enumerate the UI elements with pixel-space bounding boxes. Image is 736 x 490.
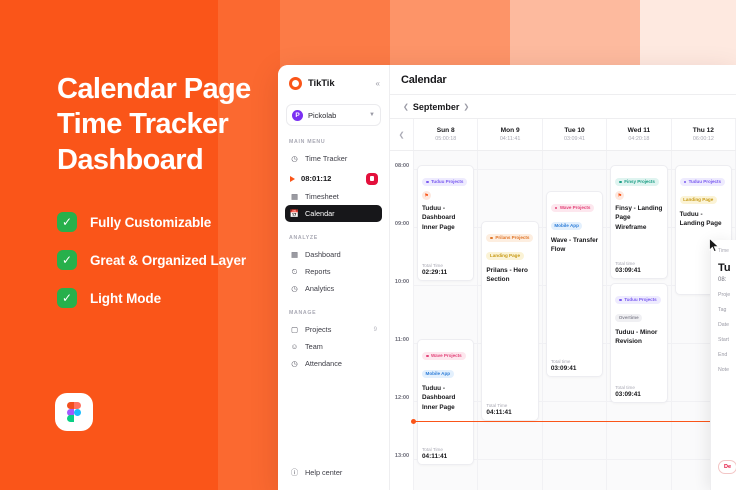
hour-gridline (478, 169, 541, 170)
detail-field-tag[interactable]: Tag (718, 307, 736, 313)
day-total: 04:20:18 (628, 136, 649, 142)
chevron-left-icon[interactable]: ❮ (399, 103, 413, 111)
day-total: 06:00:12 (693, 136, 714, 142)
project-color-dot (684, 181, 687, 184)
event-total-time: Total Time04:11:41 (486, 403, 511, 417)
day-name: Thu 12 (693, 127, 714, 134)
event-total-label: Total time (615, 261, 641, 266)
sidebar-item-label: Time Tracker (305, 154, 347, 163)
month-label: September (413, 102, 460, 112)
main-area: Calendar ❮ September ❯ ❮ Sun 8 05:00:18 … (390, 65, 736, 490)
feature-label: Great & Organized Layer (90, 253, 246, 268)
event-project-tag: Prilans Projects (486, 234, 533, 242)
sidebar-item-label: Projects (305, 325, 331, 334)
check-icon: ✓ (57, 250, 77, 270)
workspace-switcher[interactable]: P Pickolab ▼ (286, 104, 381, 126)
detail-kicker: Time (718, 248, 736, 254)
chevron-right-icon[interactable]: ❯ (459, 103, 473, 111)
event-title: Prilans - Hero Section (486, 266, 533, 285)
event-project-tag: Tuduu Projects (422, 178, 467, 186)
feature-item: ✓ Great & Organized Layer (57, 250, 297, 270)
feature-label: Fully Customizable (90, 215, 211, 230)
project-color-dot (490, 237, 493, 240)
event-title: Tuduu - Minor Revision (615, 328, 662, 347)
calendar-event[interactable]: Tuduu Projects⚑Tuduu - Dashboard Inner P… (417, 165, 474, 281)
promo-title: Calendar Page Time Tracker Dashboard (57, 72, 297, 178)
day-header[interactable]: Thu 12 06:00:12 (672, 119, 736, 150)
page-title: Calendar (401, 74, 446, 86)
feature-label: Light Mode (90, 291, 161, 306)
event-total-label: Total time (615, 385, 641, 390)
day-name: Wed 11 (628, 127, 651, 134)
project-color-dot (555, 207, 558, 210)
stop-icon[interactable] (366, 173, 378, 185)
grid-icon: ▦ (290, 250, 299, 259)
feature-item: ✓ Fully Customizable (57, 212, 297, 232)
folder-icon: ▢ (290, 325, 299, 334)
calendar-event[interactable]: Finsy Projects⚑Finsy - Landing Page Wire… (610, 165, 667, 279)
event-total-label: Total Time (486, 403, 511, 408)
sidebar-item-label: Dashboard (305, 250, 341, 259)
event-project-tag: Wave Projects (551, 204, 595, 212)
brand-name: TikTik (308, 78, 335, 89)
hour-label: 10:00 (390, 279, 414, 285)
day-columns: Tuduu Projects⚑Tuduu - Dashboard Inner P… (414, 151, 736, 490)
event-sublabel: Overtime (615, 314, 642, 322)
month-navigation: ❮ September ❯ (390, 95, 736, 119)
day-name: Mon 9 (501, 127, 520, 134)
tag-icon: ⚑ (615, 191, 624, 200)
play-icon (290, 176, 295, 182)
section-label-analyze: ANALYZE (278, 235, 389, 241)
event-sublabel: Landing Page (486, 252, 523, 260)
delete-button[interactable]: De (718, 460, 736, 474)
collapse-left-icon[interactable]: « (376, 79, 380, 88)
sidebar-item-label: Attendance (305, 359, 342, 368)
current-time-dot (411, 419, 416, 424)
day-header[interactable]: Tue 10 03:09:41 (543, 119, 607, 150)
check-icon: ✓ (57, 288, 77, 308)
mouse-pointer-icon (709, 238, 720, 253)
tag-icon: ⚑ (422, 191, 431, 200)
sidebar-item-label: Reports (305, 267, 331, 276)
event-sublabel: Landing Page (680, 196, 717, 204)
sidebar-item-timesheet[interactable]: ▦ Timesheet (285, 188, 382, 205)
event-title: Wave - Transfer Flow (551, 236, 598, 255)
sidebar-item-label: Help center (305, 468, 342, 477)
day-column[interactable]: Prilans ProjectsLanding PagePrilans - He… (478, 151, 542, 490)
timer-value: 08:01:12 (301, 174, 331, 183)
projects-count-badge: 9 (374, 327, 377, 333)
event-total-label: Total Time (422, 447, 447, 452)
project-color-dot (426, 355, 429, 358)
help-icon: ⓘ (290, 468, 299, 477)
event-total-value: 03:09:41 (615, 391, 641, 398)
event-title: Tuduu - Landing Page (680, 210, 727, 229)
event-total-time: Total time03:09:41 (615, 261, 641, 275)
sidebar-item-analytics[interactable]: ◷ Analytics (285, 280, 382, 297)
detail-title: Tu (718, 262, 736, 274)
day-name: Sun 8 (437, 127, 455, 134)
sidebar-item-dashboard[interactable]: ▦ Dashboard (285, 246, 382, 263)
day-name: Tue 10 (564, 127, 584, 134)
day-total: 03:09:41 (564, 136, 585, 142)
hour-gridline (543, 459, 606, 460)
sidebar-item-label: Timesheet (305, 192, 339, 201)
event-sublabel: Mobile App (422, 370, 454, 378)
bar-chart-icon: ⏲ (290, 267, 299, 276)
event-title: Tuduu - Dashboard Inner Page (422, 204, 469, 232)
clock-icon: ◷ (290, 359, 299, 368)
day-total: 04:11:41 (500, 136, 521, 142)
detail-field-note[interactable]: Note (718, 367, 736, 373)
day-column[interactable]: Finsy Projects⚑Finsy - Landing Page Wire… (607, 151, 671, 490)
day-column[interactable]: Tuduu Projects⚑Tuduu - Dashboard Inner P… (414, 151, 478, 490)
calendar-grid[interactable]: 08:0009:0010:0011:0012:0013:00 Tuduu Pro… (390, 151, 736, 490)
event-total-time: Total Time02:29:11 (422, 263, 447, 277)
event-project-tag: Wave Projects (422, 352, 466, 360)
hour-label: 09:00 (390, 221, 414, 227)
sidebar-item-reports[interactable]: ⏲ Reports (285, 263, 382, 280)
project-color-dot (619, 181, 622, 184)
detail-field-end[interactable]: End (718, 352, 736, 358)
sidebar-item-calendar[interactable]: 📅 Calendar (285, 205, 382, 222)
sidebar-item-label: Team (305, 342, 323, 351)
check-icon: ✓ (57, 212, 77, 232)
event-total-value: 04:11:41 (486, 409, 511, 416)
day-header[interactable]: Sun 8 05:00:18 (414, 119, 478, 150)
people-icon: ☺ (290, 342, 299, 351)
workspace-name: Pickolab (308, 111, 336, 120)
promo-content: Calendar Page Time Tracker Dashboard ✓ F… (57, 72, 297, 326)
detail-field-date[interactable]: Date (718, 322, 736, 328)
sidebar-item-projects[interactable]: ▢ Projects 9 (285, 321, 382, 338)
hour-label: 08:00 (390, 163, 414, 169)
calendar-event[interactable]: Wave ProjectsMobile AppWave - Transfer F… (546, 191, 603, 377)
help-center-row[interactable]: ⓘ Help center (278, 464, 390, 481)
hour-label: 11:00 (390, 337, 414, 343)
calendar-icon: 📅 (290, 209, 299, 218)
sidebar-item-label: Analytics (305, 284, 334, 293)
event-total-time: Total time03:09:41 (551, 359, 577, 373)
calendar-event[interactable]: Tuduu ProjectsOvertimeTuduu - Minor Revi… (610, 283, 667, 403)
clock-icon: ◷ (290, 284, 299, 293)
hour-gridline (607, 459, 670, 460)
hour-gridline (543, 169, 606, 170)
event-total-value: 02:29:11 (422, 269, 447, 276)
app-window: TikTik « P Pickolab ▼ MAIN MENU ◷ Time T… (278, 65, 736, 490)
event-total-label: Total Time (422, 263, 447, 268)
running-timer[interactable]: 08:01:12 (285, 169, 382, 188)
event-project-tag: Tuduu Projects (615, 296, 660, 304)
day-column[interactable]: Wave ProjectsMobile AppWave - Transfer F… (543, 151, 607, 490)
calendar-event[interactable]: Wave ProjectsMobile AppTuduu - Dashboard… (417, 339, 474, 465)
project-color-dot (426, 181, 429, 184)
chevron-down-icon: ▼ (369, 112, 375, 118)
hour-gridline (478, 459, 541, 460)
figma-logo-icon (55, 393, 93, 431)
event-total-time: Total time03:09:41 (615, 385, 641, 399)
calendar-event[interactable]: Prilans ProjectsLanding PagePrilans - He… (481, 221, 538, 421)
hour-gridline (543, 401, 606, 402)
scroll-left-icon[interactable]: ❮ (390, 119, 414, 150)
sidebar-item-attendance[interactable]: ◷ Attendance (285, 355, 382, 372)
event-project-tag: Finsy Projects (615, 178, 659, 186)
event-total-time: Total Time04:11:41 (422, 447, 447, 461)
clock-icon: ◷ (290, 154, 299, 163)
event-total-label: Total time (551, 359, 577, 364)
day-header[interactable]: Wed 11 04:20:18 (607, 119, 671, 150)
event-total-value: 03:09:41 (551, 365, 577, 372)
hour-label: 13:00 (390, 453, 414, 459)
event-detail-panel[interactable]: Time Tu 08: Proje Tag Date Start End Not… (710, 240, 736, 490)
event-total-value: 03:09:41 (615, 267, 641, 274)
section-label-manage: MANAGE (278, 310, 389, 316)
table-icon: ▦ (290, 192, 299, 201)
current-time-line (414, 421, 736, 422)
event-title: Tuduu - Dashboard Inner Page (422, 384, 469, 412)
event-title: Finsy - Landing Page Wireframe (615, 204, 662, 232)
event-sublabel: Mobile App (551, 222, 583, 230)
hour-label: 12:00 (390, 395, 414, 401)
detail-field-project[interactable]: Proje (718, 292, 736, 298)
detail-field-start[interactable]: Start (718, 337, 736, 343)
day-header[interactable]: Mon 9 04:11:41 (478, 119, 542, 150)
hour-gridline (414, 285, 477, 286)
day-total: 05:00:18 (435, 136, 456, 142)
sidebar: TikTik « P Pickolab ▼ MAIN MENU ◷ Time T… (278, 65, 390, 490)
sidebar-item-help-center[interactable]: ⓘ Help center (285, 464, 383, 481)
workspace-avatar: P (292, 110, 303, 121)
hour-gutter: 08:0009:0010:0011:0012:0013:00 (390, 151, 414, 490)
tiktik-logo-icon (289, 77, 302, 90)
sidebar-item-team[interactable]: ☺ Team (285, 338, 382, 355)
sidebar-item-label: Calendar (305, 209, 335, 218)
brand[interactable]: TikTik « (278, 65, 389, 100)
project-color-dot (619, 299, 622, 302)
event-project-tag: Tuduu Projects (680, 178, 725, 186)
feature-list: ✓ Fully Customizable ✓ Great & Organized… (57, 212, 297, 308)
event-total-value: 04:11:41 (422, 453, 447, 460)
sidebar-item-time-tracker[interactable]: ◷ Time Tracker (285, 150, 382, 167)
section-label-main-menu: MAIN MENU (278, 139, 389, 145)
top-bar: Calendar (390, 65, 736, 95)
day-header-row: ❮ Sun 8 05:00:18 Mon 9 04:11:41 Tue 10 0… (390, 119, 736, 151)
feature-item: ✓ Light Mode (57, 288, 297, 308)
detail-time: 08: (718, 277, 736, 283)
